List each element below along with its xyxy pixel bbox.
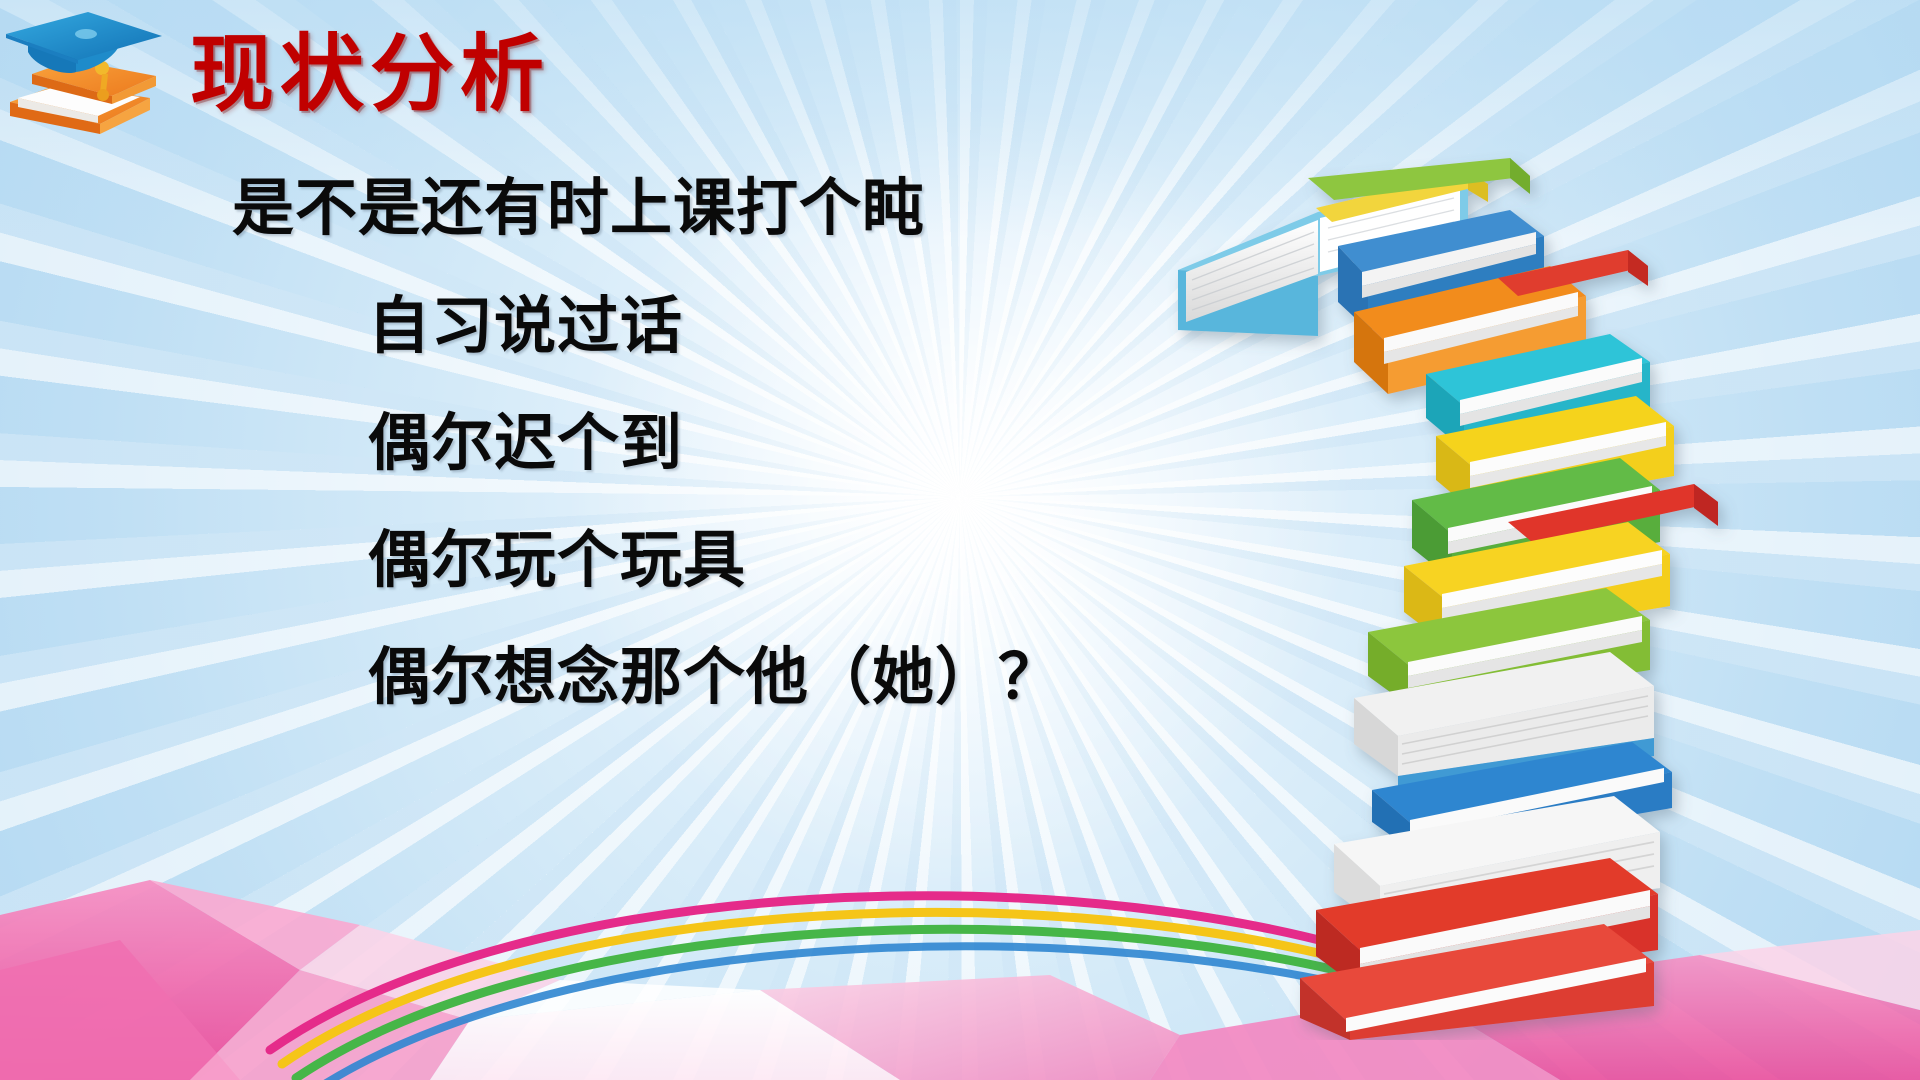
body-line-3: 偶尔迟个到 bbox=[368, 413, 1100, 475]
body-line-5: 偶尔想念那个他（她）？ bbox=[368, 647, 1100, 709]
page-title: 现状分析 bbox=[190, 32, 550, 116]
body-line-2: 自习说过话 bbox=[368, 296, 1100, 358]
graduation-cap-on-books-icon bbox=[0, 6, 168, 138]
slide-canvas: 现状分析 是不是还有时上课打个盹 自习说过话 偶尔迟个到 偶尔玩个玩具 偶尔想念… bbox=[0, 0, 1920, 1080]
slide-header: 现状分析 bbox=[0, 6, 550, 138]
body-line-1: 是不是还有时上课打个盹 bbox=[232, 178, 1100, 240]
body-line-4: 偶尔玩个玩具 bbox=[368, 530, 1100, 592]
body-text-block: 是不是还有时上课打个盹 自习说过话 偶尔迟个到 偶尔玩个玩具 偶尔想念那个他（她… bbox=[0, 178, 1100, 709]
